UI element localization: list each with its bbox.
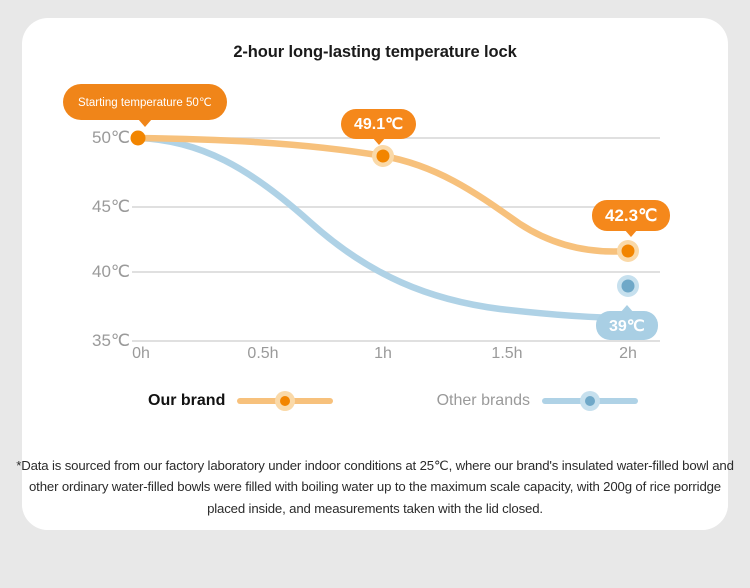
x-tick-0-5h: 0.5h: [247, 345, 278, 363]
our-brand-1h-value-badge: 49.1℃: [341, 109, 416, 139]
x-tick-2h: 2h: [619, 345, 637, 363]
other-brands-2h-value-badge: 39℃: [596, 311, 658, 340]
legend-item-other-brands: Other brands: [437, 392, 638, 410]
x-tick-1h: 1h: [374, 345, 392, 363]
footnote-disclaimer: *Data is sourced from our factory labora…: [10, 455, 740, 519]
legend-dot-orange: [275, 391, 295, 411]
page-title: 2-hour long-lasting temperature lock: [140, 42, 610, 63]
legend-swatch-our-brand: [237, 392, 333, 410]
legend-dot-blue: [580, 391, 600, 411]
our-brand-2h-value-badge: 42.3℃: [592, 200, 670, 231]
y-tick-50: 50℃: [70, 128, 130, 148]
legend-label-our-brand: Our brand: [148, 392, 225, 410]
legend-swatch-other-brands: [542, 392, 638, 410]
legend-item-our-brand: Our brand: [148, 392, 333, 410]
y-tick-35: 35℃: [70, 331, 130, 351]
x-tick-0h: 0h: [132, 345, 150, 363]
legend-label-other-brands: Other brands: [437, 392, 530, 410]
chart-legend: Our brand Other brands: [148, 392, 638, 410]
starting-temperature-badge: Starting temperature 50℃: [63, 84, 227, 120]
y-tick-45: 45℃: [70, 197, 130, 217]
y-tick-40: 40℃: [70, 262, 130, 282]
x-tick-1-5h: 1.5h: [491, 345, 522, 363]
